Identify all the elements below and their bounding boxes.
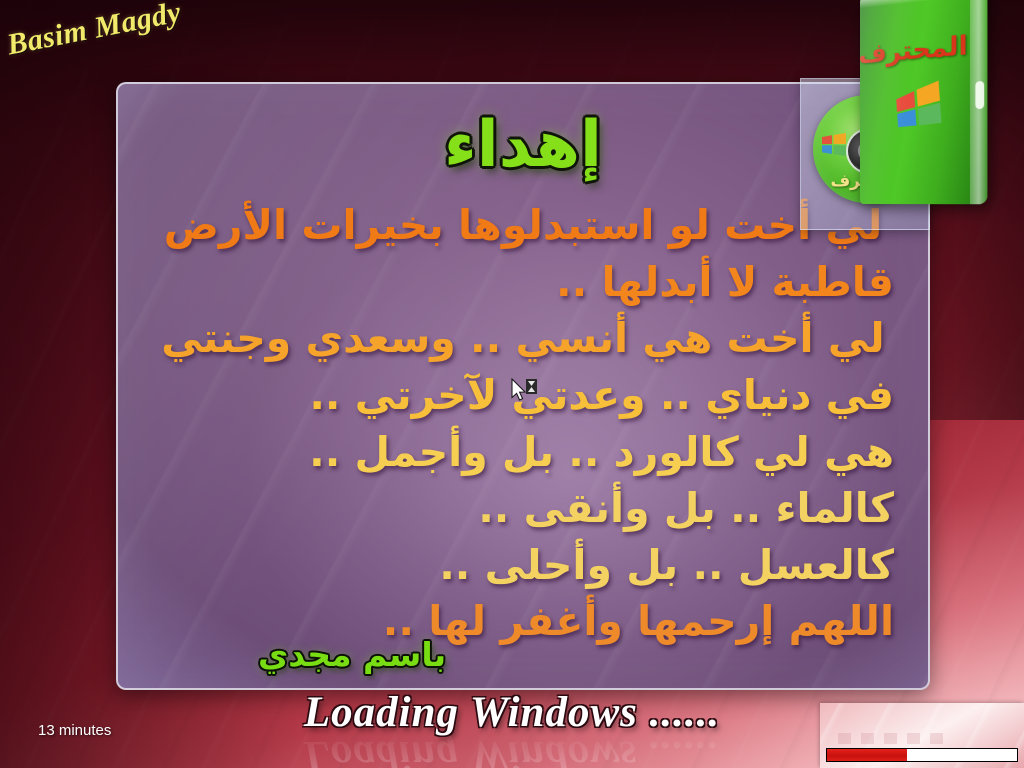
decor-block xyxy=(930,733,943,744)
boot-splash-screen: Basim Magdy إهداء لي أخت لو استبدلوها بخ… xyxy=(0,0,1024,768)
poem-line: لي أخت لو استبدلوها بخيرات الأرض xyxy=(152,197,894,254)
poem-line: كالماء .. بل وأنقى .. xyxy=(152,480,894,537)
author-signature: باسم مجدي xyxy=(258,635,446,674)
dedication-panel: إهداء لي أخت لو استبدلوها بخيرات الأرض ق… xyxy=(116,82,930,690)
time-remaining-label: 13 minutes xyxy=(38,722,111,739)
progress-bar xyxy=(826,748,1018,762)
progress-window-decor xyxy=(838,733,943,744)
page-title: إهداء xyxy=(118,112,928,179)
dedication-poem: لي أخت لو استبدلوها بخيرات الأرض قاطبة ل… xyxy=(118,197,928,650)
decor-block xyxy=(838,733,851,744)
poem-line: هي لي كالورد .. بل وأجمل .. xyxy=(152,424,894,481)
decor-block xyxy=(907,733,920,744)
decor-block xyxy=(861,733,874,744)
poem-line: لي أخت هي أنسي .. وسعدي وجنتي xyxy=(152,310,894,367)
progress-bar-fill xyxy=(827,749,907,761)
poem-line: قاطبة لا أبدلها .. xyxy=(152,254,894,311)
poem-line: في دنياي .. وعدتي لآخرتي .. xyxy=(152,367,894,424)
progress-window xyxy=(820,703,1024,768)
decor-block xyxy=(884,733,897,744)
poem-line: كالعسل .. بل وأحلى .. xyxy=(152,537,894,594)
